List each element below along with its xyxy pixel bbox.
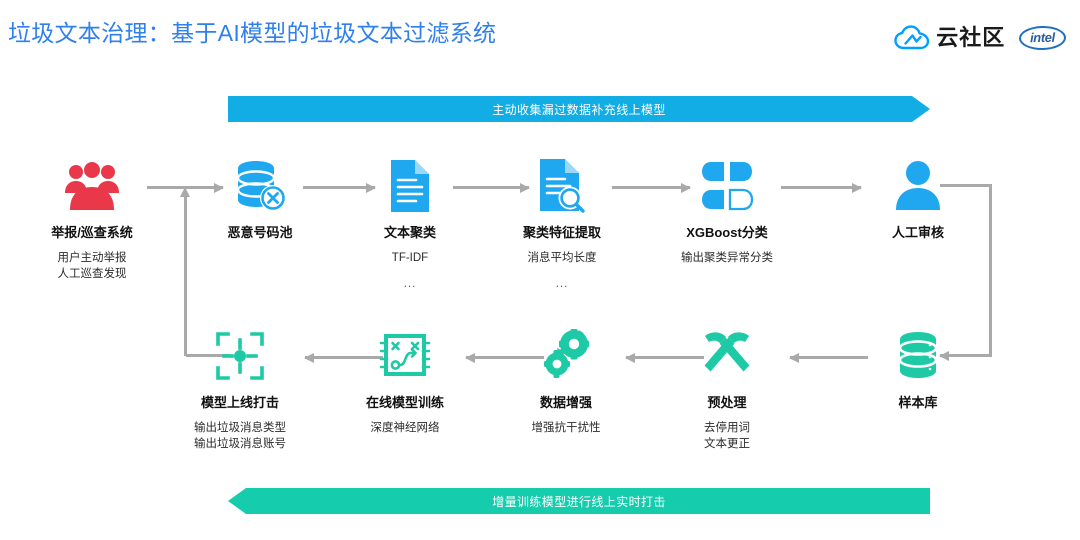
node-label: 人工审核 [892,225,944,241]
document-search-icon [531,155,593,217]
cloud-logo-text: 云社区 [936,27,1005,49]
node-sublabel: 增强抗干扰性 [532,420,601,437]
node-model-online-strike[interactable]: 模型上线打击 输出垃圾消息类型 输出垃圾消息账号 [165,325,315,453]
node-label: 模型上线打击 [201,395,279,411]
node-sublabel-line: 输出垃圾消息类型 [194,420,286,437]
node-sublabel-line: TF-IDF [392,250,428,267]
node-report-patrol-system[interactable]: 举报/巡查系统 用户主动举报 人工巡查发现 [17,155,167,283]
node-data-augmentation[interactable]: 数据增强 增强抗干扰性 [491,325,641,436]
brand-area: 云社区 intel [895,26,1066,50]
document-lines-icon [379,155,441,217]
node-manual-review[interactable]: 人工审核 [843,155,993,241]
node-sublabel: 消息平均长度 ... [528,250,597,293]
node-sublabel-line: 文本更正 [704,436,750,453]
people-group-icon [61,155,123,217]
node-sample-database[interactable]: 样本库 [843,325,993,411]
node-sublabel: 用户主动举报 人工巡查发现 [58,250,127,283]
node-xgboost-classification[interactable]: XGBoost分类 输出聚类异常分类 [652,155,802,266]
page-title: 垃圾文本治理：基于AI模型的垃圾文本过滤系统 [8,14,496,48]
node-sublabel-line: 人工巡查发现 [58,266,127,283]
node-sublabel-line: 输出聚类异常分类 [681,250,773,267]
database-icon [887,325,949,387]
person-icon [887,155,949,217]
node-cluster-feature-extraction[interactable]: 聚类特征提取 消息平均长度 ... [487,155,637,293]
database-blocked-icon [229,155,291,217]
node-online-model-training[interactable]: 在线模型训练 深度神经网络 [330,325,480,436]
node-label: 样本库 [898,395,937,411]
node-sublabel-line: 输出垃圾消息账号 [194,436,286,453]
node-label: 在线模型训练 [366,395,444,411]
four-petal-icon [696,155,758,217]
banner-bottom-arrow: 增量训练模型进行线上实时打击 [228,488,930,514]
chip-strategy-icon [374,325,436,387]
node-preprocessing[interactable]: 预处理 去停用词 文本更正 [652,325,802,453]
node-sublabel: 深度神经网络 [371,420,440,437]
banner-top-text: 主动收集漏过数据补充线上模型 [492,101,666,118]
node-sublabel: 输出聚类异常分类 [681,250,773,267]
node-label: 举报/巡查系统 [51,225,133,241]
node-sublabel: 输出垃圾消息类型 输出垃圾消息账号 [194,420,286,453]
node-label: 数据增强 [540,395,592,411]
node-sublabel-line: 增强抗干扰性 [532,420,601,437]
node-label: 恶意号码池 [227,225,292,241]
banner-bottom-text: 增量训练模型进行线上实时打击 [492,493,666,510]
cloud-community-logo: 云社区 [895,26,1005,50]
node-sublabel: 去停用词 文本更正 [704,420,750,453]
node-label: 聚类特征提取 [523,225,601,241]
node-sublabel: TF-IDF ... [392,250,428,293]
banner-top-arrow: 主动收集漏过数据补充线上模型 [228,96,930,122]
node-label: 预处理 [707,395,746,411]
crossed-hammers-icon [696,325,758,387]
target-crosshair-icon [209,325,271,387]
node-sublabel-line: 用户主动举报 [58,250,127,267]
node-sublabel-ellipsis: ... [528,276,597,293]
node-label: XGBoost分类 [686,225,768,241]
node-sublabel-ellipsis: ... [392,276,428,293]
node-malicious-number-pool[interactable]: 恶意号码池 [185,155,335,241]
node-label: 文本聚类 [384,225,436,241]
cloud-logo-icon [895,26,929,50]
intel-logo: intel [1019,26,1066,51]
node-sublabel-line: 深度神经网络 [371,420,440,437]
node-text-clustering[interactable]: 文本聚类 TF-IDF ... [335,155,485,293]
gears-icon [535,325,597,387]
node-sublabel-line: 去停用词 [704,420,750,437]
node-sublabel-line: 消息平均长度 [528,250,597,267]
